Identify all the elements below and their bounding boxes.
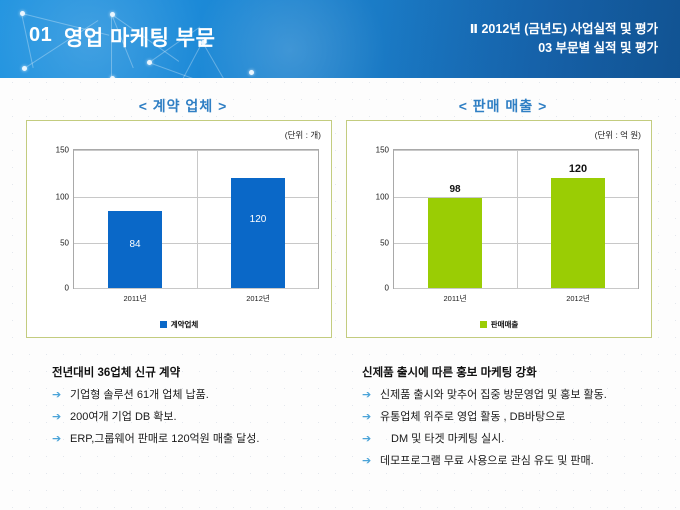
arrow-right-icon: ➔	[362, 389, 380, 402]
slide-header: 01 영업 마케팅 부문 Ⅱ 2012년 (금년도) 사업실적 및 평가 03 …	[0, 0, 680, 78]
header-network-dot	[249, 70, 254, 75]
list-item: ➔ 신제품 출시와 맞추어 집중 방문영업 및 홍보 활동.	[362, 389, 672, 402]
list-item: ➔ DM 및 타겟 마케팅 실시.	[362, 433, 672, 446]
list-item: ➔ 데모프로그램 무료 사용으로 관심 유도 및 판매.	[362, 455, 672, 468]
chart-legend: 판매매출	[347, 319, 651, 330]
list-item-label: 유통업체 위주로 영업 활동 , DB바탕으로	[380, 411, 565, 424]
list-item-label: 기업형 솔루션 61개 업체 납품.	[70, 389, 209, 402]
list-item: ➔ 기업형 솔루션 61개 업체 납품.	[52, 389, 352, 402]
chart-panel-contract-companies: (단위 : 개) 150 100 50 0 84 2011년 1	[26, 120, 332, 338]
bar-value-label-2012: 120	[551, 163, 605, 175]
x-axis-tick-2011: 2011년	[415, 293, 495, 304]
y-axis-tick-100: 100	[376, 192, 389, 201]
bar-contract-2012[interactable]: 120 2012년	[231, 178, 285, 288]
chart-panel-sales-revenue: (단위 : 억 원) 150 100 50 0 98 2011년 120	[346, 120, 652, 338]
arrow-right-icon: ➔	[52, 411, 70, 424]
slide-canvas: 01 영업 마케팅 부문 Ⅱ 2012년 (금년도) 사업실적 및 평가 03 …	[0, 0, 680, 510]
chart-vertical-divider	[197, 150, 198, 288]
y-axis-tick-0: 0	[385, 284, 389, 293]
x-axis-tick-2012: 2012년	[538, 293, 618, 304]
x-axis-tick-2011: 2011년	[95, 293, 175, 304]
y-axis-tick-150: 150	[376, 146, 389, 155]
arrow-right-icon: ➔	[52, 389, 70, 402]
bullet-list-sales: 신제품 출시에 따른 홍보 마케팅 강화 ➔ 신제품 출시와 맞추어 집중 방문…	[362, 364, 672, 477]
chart-unit-label: (단위 : 개)	[285, 129, 321, 141]
breadcrumb-line-2: 03 부문별 실적 및 평가	[470, 39, 658, 58]
legend-swatch-icon	[160, 321, 167, 328]
chart-vertical-divider	[517, 150, 518, 288]
bar-value-label-2011: 84	[108, 239, 162, 250]
list-item-label: 신제품 출시와 맞추어 집중 방문영업 및 홍보 활동.	[380, 389, 607, 402]
legend-label-contract: 계약업체	[171, 319, 199, 330]
y-axis-tick-100: 100	[56, 192, 69, 201]
header-network-line	[149, 62, 200, 78]
page-title: 영업 마케팅 부문	[64, 22, 215, 52]
bullet-heading: 신제품 출시에 따른 홍보 마케팅 강화	[362, 364, 672, 380]
bullet-list-contract: 전년대비 36업체 신규 계약 ➔ 기업형 솔루션 61개 업체 납품. ➔ 2…	[52, 364, 352, 455]
chart-unit-label: (단위 : 억 원)	[595, 129, 641, 141]
header-network-dot	[147, 60, 152, 65]
list-item-label: 200여개 기업 DB 확보.	[70, 411, 177, 424]
gridline-150: 150	[394, 150, 638, 151]
list-item-label: DM 및 타겟 마케팅 실시.	[380, 433, 504, 446]
bar-sales-2011[interactable]: 98 2011년	[428, 198, 482, 288]
gridline-0: 0	[74, 288, 318, 289]
legend-swatch-icon	[480, 321, 487, 328]
y-axis-tick-150: 150	[56, 146, 69, 155]
chart-plot-area: 150 100 50 0 84 2011년 120 2012년	[73, 149, 319, 289]
list-item-label: ERP,그룹웨어 판매로 120억원 매출 달성.	[70, 433, 259, 446]
y-axis-tick-50: 50	[60, 239, 69, 248]
list-item-label: 데모프로그램 무료 사용으로 관심 유도 및 판매.	[380, 455, 594, 468]
legend-label-sales: 판매매출	[491, 319, 519, 330]
gridline-0: 0	[394, 288, 638, 289]
y-axis-tick-50: 50	[380, 239, 389, 248]
header-network-dot	[110, 12, 115, 17]
arrow-right-icon: ➔	[52, 433, 70, 446]
arrow-right-icon: ➔	[362, 433, 380, 446]
breadcrumb-line-1: Ⅱ 2012년 (금년도) 사업실적 및 평가	[470, 20, 658, 39]
arrow-right-icon: ➔	[362, 411, 380, 424]
header-network-dot	[22, 66, 27, 71]
gridline-150: 150	[74, 150, 318, 151]
chart-legend: 계약업체	[27, 319, 331, 330]
bullet-heading: 전년대비 36업체 신규 계약	[52, 364, 352, 380]
list-item: ➔ ERP,그룹웨어 판매로 120억원 매출 달성.	[52, 433, 352, 446]
chart-plot-area: 150 100 50 0 98 2011년 120 2012년	[393, 149, 639, 289]
x-axis-tick-2012: 2012년	[218, 293, 298, 304]
section-title-sales: < 판매 매출 >	[348, 96, 658, 116]
arrow-right-icon: ➔	[362, 455, 380, 468]
header-network-dot	[110, 76, 115, 78]
bar-sales-2012[interactable]: 120 2012년	[551, 178, 605, 288]
slide-number: 01	[29, 24, 52, 47]
bar-contract-2011[interactable]: 84 2011년	[108, 211, 162, 288]
header-breadcrumb: Ⅱ 2012년 (금년도) 사업실적 및 평가 03 부문별 실적 및 평가	[470, 20, 658, 58]
section-title-contract: < 계약 업체 >	[28, 96, 338, 116]
list-item: ➔ 유통업체 위주로 영업 활동 , DB바탕으로	[362, 411, 672, 424]
bar-value-label-2011: 98	[428, 184, 482, 195]
bar-value-label-2012: 120	[231, 214, 285, 225]
list-item: ➔ 200여개 기업 DB 확보.	[52, 411, 352, 424]
y-axis-tick-0: 0	[65, 284, 69, 293]
header-network-dot	[20, 11, 25, 16]
